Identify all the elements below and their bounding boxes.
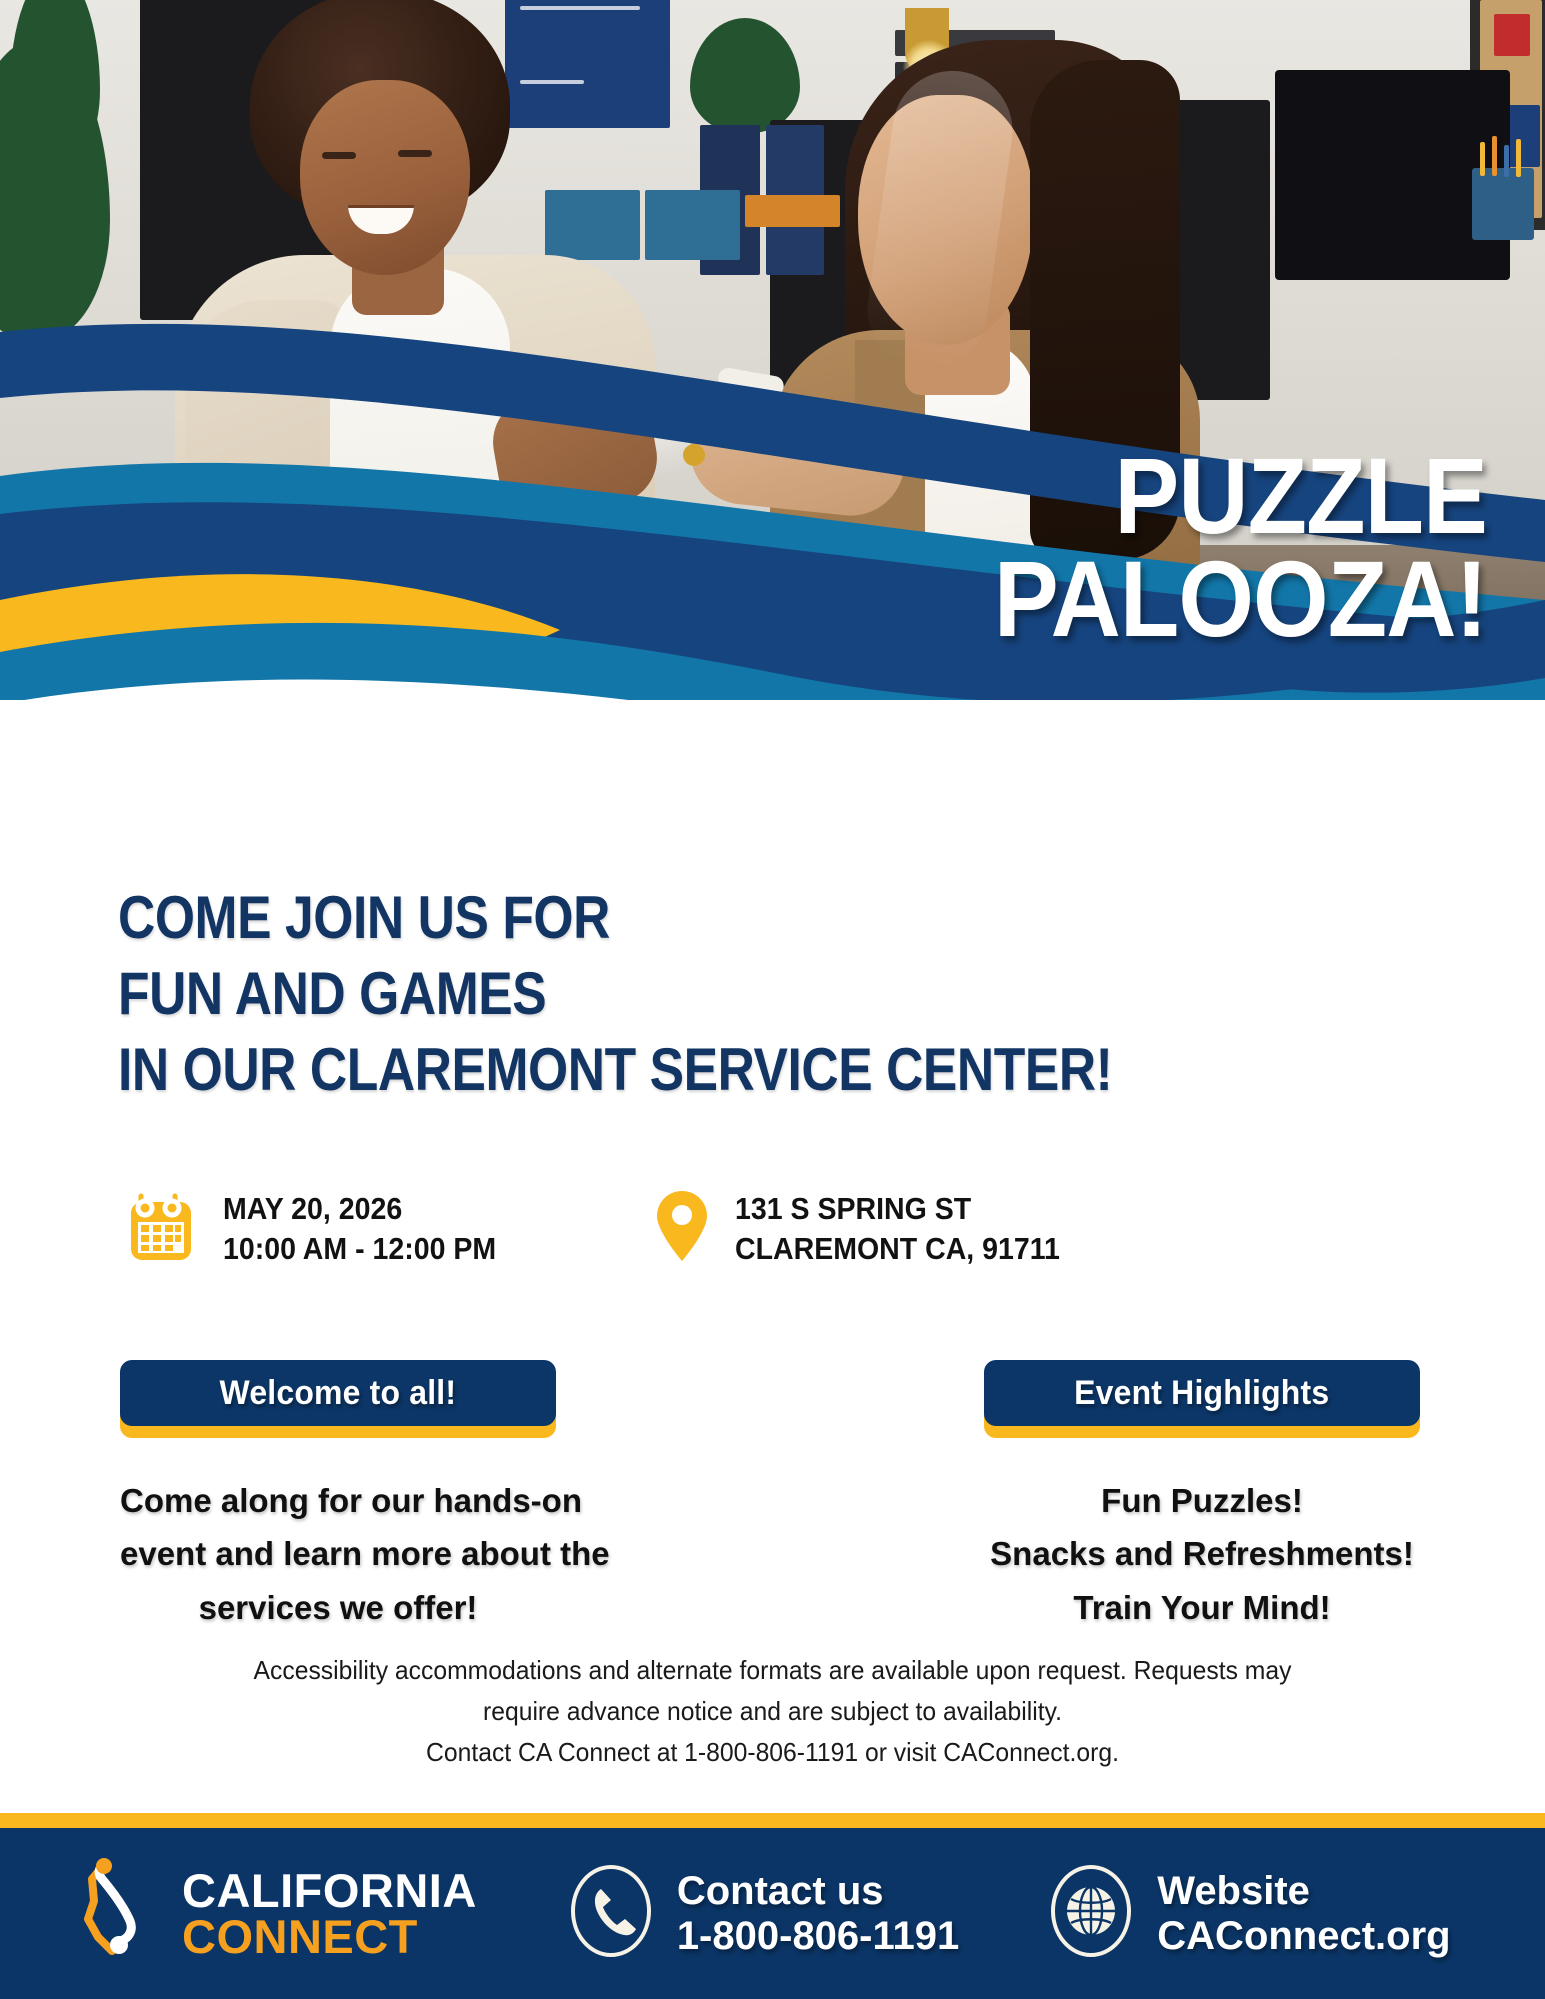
- footer-contact[interactable]: Contact us 1-800-806-1191: [567, 1863, 959, 1964]
- event-time: 10:00 AM - 12:00 PM: [223, 1229, 496, 1268]
- event-city: CLAREMONT CA, 91711: [735, 1229, 1060, 1268]
- footer-bar: CALIFORNIA CONNECT Contact us 1-800-806-…: [0, 1828, 1545, 1999]
- disclaimer-line-3: Contact CA Connect at 1-800-806-1191 or …: [162, 1732, 1383, 1773]
- event-date: MAY 20, 2026: [223, 1189, 496, 1228]
- photo-storage-box: [545, 190, 640, 260]
- brand-logo-text: CALIFORNIA CONNECT: [182, 1868, 477, 1959]
- brand-logo: CALIFORNIA CONNECT: [72, 1857, 477, 1970]
- footer-contact-label: Contact us: [677, 1869, 884, 1913]
- highlights-body-line-1: Fun Puzzles!: [984, 1474, 1420, 1527]
- column-highlights: Event Highlights Fun Puzzles! Snacks and…: [984, 1360, 1420, 1634]
- footer-phone-number: 1-800-806-1191: [677, 1914, 959, 1959]
- accessibility-disclaimer: Accessibility accommodations and alterna…: [162, 1650, 1383, 1773]
- event-title-line-2: PALOOZA!: [677, 548, 1487, 651]
- phone-icon: [567, 1863, 655, 1964]
- welcome-body-line-1: Come along for our hands-on: [120, 1474, 556, 1527]
- highlights-banner: Event Highlights: [984, 1360, 1420, 1426]
- headline: COME JOIN US FOR FUN AND GAMES IN OUR CL…: [118, 880, 1107, 1109]
- calendar-icon: [125, 1188, 197, 1269]
- photo-red-note: [1494, 14, 1530, 56]
- footer-website-url: CAConnect.org: [1157, 1914, 1450, 1959]
- welcome-banner-label: Welcome to all!: [220, 1374, 457, 1413]
- photo-person-left-eye: [322, 152, 356, 159]
- highlights-body-line-2: Snacks and Refreshments!: [984, 1527, 1420, 1580]
- column-welcome: Welcome to all! Come along for our hands…: [120, 1360, 556, 1634]
- photo-pencil: [1480, 142, 1485, 176]
- highlights-banner-label: Event Highlights: [1074, 1374, 1329, 1413]
- highlights-banner-wrap: Event Highlights: [984, 1360, 1420, 1438]
- photo-storage-box: [645, 190, 740, 260]
- photo-orange-box: [745, 195, 840, 227]
- headline-line-3: IN OUR CLAREMONT SERVICE CENTER!: [118, 1032, 1107, 1108]
- photo-person-left-face: [300, 80, 470, 275]
- photo-pencil: [1492, 136, 1497, 176]
- event-date-text: MAY 20, 2026 10:00 AM - 12:00 PM: [223, 1189, 496, 1267]
- headline-line-1: COME JOIN US FOR: [118, 880, 1107, 956]
- brand-name-line-1: CALIFORNIA: [182, 1868, 477, 1914]
- welcome-body: Come along for our hands-on event and le…: [120, 1474, 556, 1634]
- map-pin-icon: [655, 1188, 709, 1269]
- photo-pencil-cup: [1472, 168, 1534, 240]
- footer-website-label: Website: [1157, 1869, 1310, 1913]
- photo-pencil: [1504, 145, 1509, 177]
- photo-plant: [10, 0, 100, 170]
- event-street: 131 S SPRING ST: [735, 1189, 1060, 1228]
- poster-line: [520, 80, 584, 84]
- headline-line-2: FUN AND GAMES: [118, 956, 1107, 1032]
- event-location-text: 131 S SPRING ST CLAREMONT CA, 91711: [735, 1189, 1060, 1267]
- footer-website-text: Website CAConnect.org: [1157, 1869, 1450, 1959]
- event-title: PUZZLE PALOOZA!: [677, 445, 1487, 650]
- photo-poster: [505, 0, 670, 128]
- photo-person-left-eye: [398, 150, 432, 157]
- event-date-block: MAY 20, 2026 10:00 AM - 12:00 PM: [125, 1188, 655, 1269]
- welcome-banner: Welcome to all!: [120, 1360, 556, 1426]
- poster-line: [520, 6, 640, 10]
- event-title-line-1: PUZZLE: [677, 445, 1487, 548]
- welcome-banner-wrap: Welcome to all!: [120, 1360, 556, 1438]
- highlights-body: Fun Puzzles! Snacks and Refreshments! Tr…: [984, 1474, 1420, 1634]
- event-info-row: MAY 20, 2026 10:00 AM - 12:00 PM 131 S S…: [125, 1188, 1415, 1269]
- footer-website[interactable]: Website CAConnect.org: [1047, 1863, 1450, 1964]
- highlights-body-line-3: Train Your Mind!: [984, 1581, 1420, 1634]
- flyer-page: PUZZLE PALOOZA! COME JOIN US FOR FUN AND…: [0, 0, 1545, 1999]
- photo-pencil: [1516, 139, 1521, 177]
- welcome-body-line-2: event and learn more about the: [120, 1527, 556, 1580]
- footer-contact-text: Contact us 1-800-806-1191: [677, 1869, 959, 1959]
- hero-photo: PUZZLE PALOOZA!: [0, 0, 1545, 700]
- footer-gold-bar: [0, 1813, 1545, 1828]
- disclaimer-line-1: Accessibility accommodations and alterna…: [162, 1650, 1383, 1691]
- welcome-body-line-3: services we offer!: [120, 1581, 556, 1634]
- california-phone-logo: [72, 1857, 168, 1970]
- info-columns: Welcome to all! Come along for our hands…: [120, 1360, 1420, 1634]
- disclaimer-line-2: require advance notice and are subject t…: [162, 1691, 1383, 1732]
- brand-name-line-2: CONNECT: [182, 1914, 477, 1960]
- event-location-block: 131 S SPRING ST CLAREMONT CA, 91711: [655, 1188, 1088, 1269]
- globe-icon: [1047, 1863, 1135, 1964]
